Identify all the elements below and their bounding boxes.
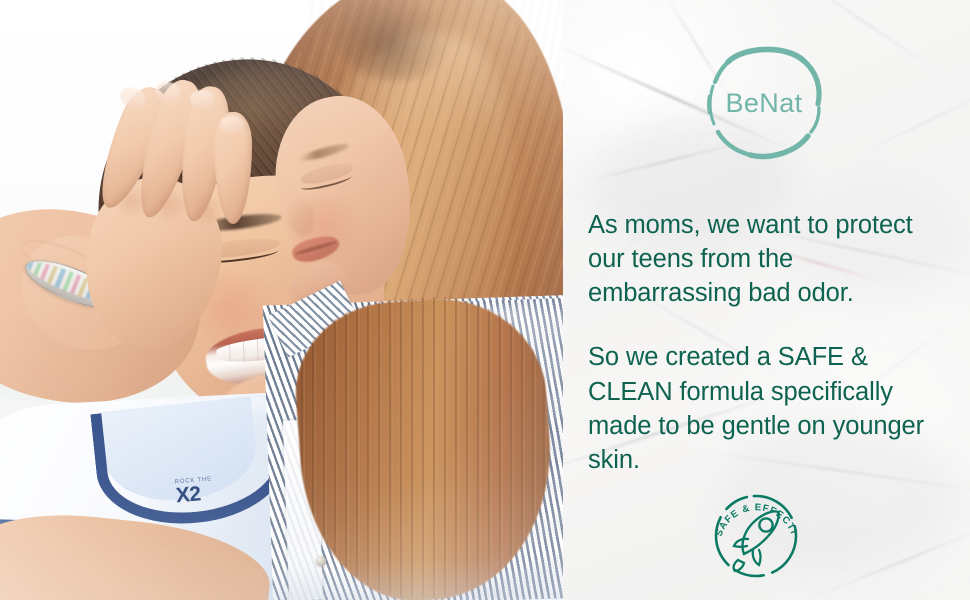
- product-banner: ROCK THE X2: [0, 0, 970, 600]
- mother-knuckle-1: [112, 186, 152, 216]
- badge-stamp-icon: SAFE & EFFECTIVE: [704, 486, 808, 586]
- safe-and-effective-badge: SAFE & EFFECTIVE: [704, 486, 808, 586]
- mother-knuckle-2: [150, 190, 190, 220]
- teen-polo-graphic: ROCK THE X2: [174, 473, 255, 518]
- benat-logo[interactable]: BeNat: [690, 28, 838, 178]
- lifestyle-photo: ROCK THE X2: [0, 0, 563, 600]
- copy-paragraph-2: So we created a SAFE & CLEAN formula spe…: [588, 340, 950, 477]
- marketing-copy: As moms, we want to protect our teens fr…: [588, 208, 950, 477]
- mother-knuckle-3: [188, 196, 226, 224]
- polo-graphic-main-line: X2: [175, 479, 255, 507]
- copy-paragraph-1: As moms, we want to protect our teens fr…: [588, 208, 950, 310]
- logo-wordmark: BeNat: [690, 28, 838, 178]
- badge-label: SAFE & EFFECTIVE: [704, 486, 799, 538]
- mother-fingernail-4: [220, 116, 244, 134]
